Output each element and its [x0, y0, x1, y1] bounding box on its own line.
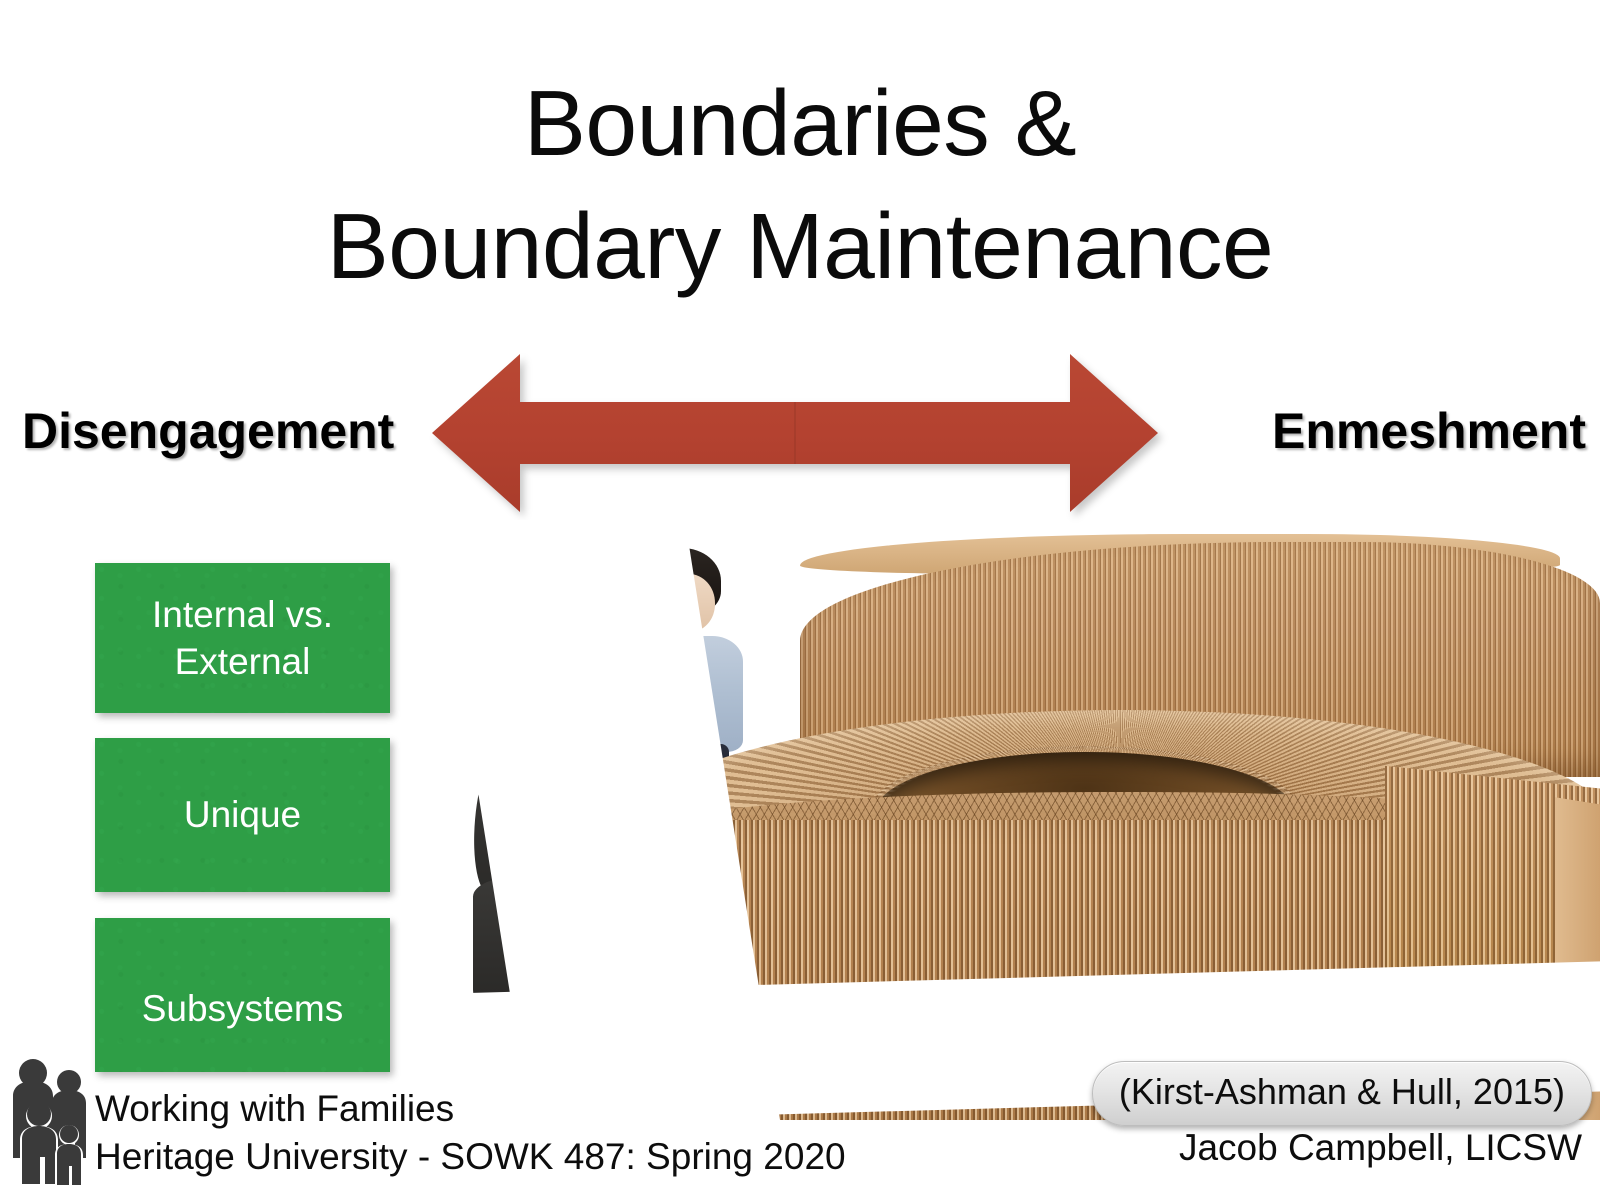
concept-box-label: Internal vs. External: [95, 591, 390, 686]
concept-box-unique[interactable]: Unique: [95, 738, 390, 892]
double-arrow-icon: [432, 352, 1158, 514]
citation-badge: (Kirst-Ashman & Hull, 2015): [1092, 1061, 1592, 1126]
footer-course-info: Working with Families Heritage Universit…: [95, 1085, 846, 1181]
concept-box-label: Subsystems: [142, 985, 344, 1032]
spectrum-arrow: [432, 352, 1158, 514]
spectrum-label-right: Enmeshment: [1272, 406, 1586, 456]
concept-box-label: Unique: [184, 791, 301, 838]
concept-box-subsystems[interactable]: Subsystems: [95, 918, 390, 1072]
honeycomb-partition-photo: [455, 520, 1600, 1120]
footer-line-2: Heritage University - SOWK 487: Spring 2…: [95, 1133, 846, 1181]
family-icon: [6, 1056, 102, 1188]
slide-canvas: Boundaries & Boundary Maintenance Diseng…: [0, 0, 1600, 1200]
footer-line-1: Working with Families: [95, 1085, 846, 1133]
presenter-name: Jacob Campbell, LICSW: [1179, 1127, 1582, 1170]
title-line-2: Boundary Maintenance: [0, 185, 1600, 308]
title-line-1: Boundaries &: [524, 71, 1076, 175]
spectrum-label-left: Disengagement: [22, 406, 394, 456]
page-title: Boundaries & Boundary Maintenance: [0, 62, 1600, 308]
concept-box-internal-external[interactable]: Internal vs. External: [95, 563, 390, 713]
